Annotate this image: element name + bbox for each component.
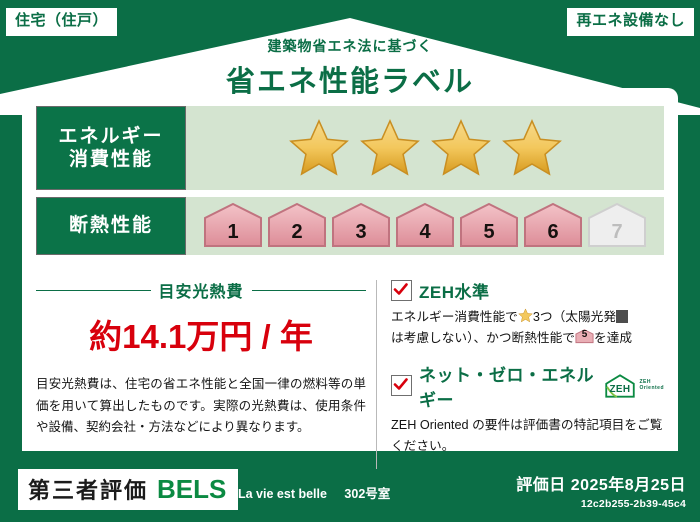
building-info: La vie est belle 302号室 [238,483,390,502]
energy-label-root: 住宅（住戸） 再エネ設備なし 建築物省エネ法に基づく 省エネ性能ラベル エネルギ… [0,0,700,522]
zeh-body-part-4: を達成 [594,331,632,345]
label-header: 建築物省エネ法に基づく 省エネ性能ラベル [0,36,700,100]
zeh-oriented-body: ZEH Oriented の要件は評価書の特記項目をご覧ください。 [391,415,664,457]
row-label-insulation: 断熱性能 [36,197,186,255]
zeh-standard-title-row: ZEH水準 [391,278,664,303]
row-label-energy-line1: エネルギー [58,125,163,148]
zeh-standard-body: エネルギー消費性能で3つ（太陽光発は考慮しない）、かつ断熱性能で5を達成 [391,307,664,349]
house-level-number: 3 [330,221,392,244]
star-icon [501,118,563,178]
row-energy-performance: エネルギー 消費性能 [36,106,664,190]
svg-text:ZEH: ZEH [610,384,631,395]
evaluation-id: 12c2b255-2b39-45c4 [516,498,686,510]
evaluation-date-value: 2025年8月25日 [571,477,686,494]
zeh-logo-icon: ZEH ZEH Oriented [603,373,664,399]
house-level-number: 7 [586,221,648,244]
house-level-number: 2 [266,221,328,244]
utility-cost-heading: 目安光熱費 [36,278,366,302]
building-name: La vie est belle [238,487,327,501]
star-list [288,118,563,178]
star-icon [430,118,492,178]
page-title: 省エネ性能ラベル [0,58,700,100]
header-subtitle: 建築物省エネ法に基づく [0,36,700,56]
house-icon: 2 [266,202,328,250]
heading-rule-left [36,290,151,291]
zeh-body-part-1: エネルギー消費性能で [391,310,518,324]
row-insulation-performance: 断熱性能 1 [36,197,664,255]
zeh-section: ZEH水準 エネルギー消費性能で3つ（太陽光発は考慮しない）、かつ断熱性能で5を… [391,278,664,469]
zeh-logo-sub2: Oriented [639,385,664,391]
utility-cost-note: 目安光熱費は、住宅の省エネ性能と全国一律の燃料等の単価を用いて算出したものです。… [36,374,366,439]
insulation-level-scale: 1 2 3 [186,197,664,255]
tag-renewable-equipment: 再エネ設備なし [567,8,694,36]
evaluation-info: 評価日 2025年8月25日 12c2b255-2b39-45c4 [516,471,686,510]
utility-cost-value: 約14.1万円 / 年 [36,310,366,358]
utility-cost-section: 目安光熱費 約14.1万円 / 年 目安光熱費は、住宅の省エネ性能と全国一律の燃… [36,278,366,469]
house-level-number: 5 [575,327,594,344]
zeh-oriented-title: ネット・ゼロ・エネルギー [419,361,596,411]
evaluation-date-row: 評価日 2025年8月25日 [516,471,686,495]
house-icon: 5 [575,329,594,344]
performance-section: エネルギー 消費性能 [36,106,664,262]
zeh-oriented-block: ネット・ゼロ・エネルギー ZEH ZEH Oriented [391,361,664,457]
zeh-oriented-title-row: ネット・ゼロ・エネルギー ZEH ZEH Oriented [391,361,664,411]
house-icon: 5 [458,202,520,250]
house-icon: 1 [202,202,264,250]
house-icon: 3 [330,202,392,250]
glyph-block [616,310,628,323]
vertical-divider [376,280,377,469]
star-icon [288,118,350,178]
house-level-number: 6 [522,221,584,244]
house-icon: 6 [522,202,584,250]
house-icon: 7 [586,202,648,250]
checkmark-icon [391,280,412,301]
zeh-body-part-3: は考慮しない）、かつ断熱性能で [391,331,575,345]
footer: 第三者評価 BELS La vie est belle 302号室 評価日 20… [0,459,700,522]
checkmark-icon [391,375,412,396]
house-level-number: 1 [202,221,264,244]
heading-rule-right [252,290,367,291]
utility-cost-heading-text: 目安光熱費 [159,278,244,302]
zeh-standard-title: ZEH水準 [419,278,490,303]
zeh-body-part-2: 3つ（太陽光発 [533,310,616,324]
house-level-number: 5 [458,221,520,244]
zeh-standard-block: ZEH水準 エネルギー消費性能で3つ（太陽光発は考慮しない）、かつ断熱性能で5を… [391,278,664,349]
row-label-energy: エネルギー 消費性能 [36,106,186,190]
star-icon [359,118,421,178]
lower-section: 目安光熱費 約14.1万円 / 年 目安光熱費は、住宅の省エネ性能と全国一律の燃… [36,278,664,469]
bels-badge-jp: 第三者評価 [28,473,148,505]
main-panel: エネルギー 消費性能 [22,88,678,451]
evaluation-date-label: 評価日 [516,477,566,494]
room-number: 302号室 [344,487,390,501]
bels-badge-en: BELS [157,474,226,505]
energy-star-rating [186,106,664,190]
bels-badge: 第三者評価 BELS [18,469,238,510]
house-list: 1 2 3 [202,202,648,250]
star-icon [518,308,533,323]
row-label-insulation-line1: 断熱性能 [69,214,153,237]
house-level-number: 4 [394,221,456,244]
tag-housing-type: 住宅（住戸） [6,8,117,36]
row-label-energy-line2: 消費性能 [69,148,153,171]
house-icon: 4 [394,202,456,250]
